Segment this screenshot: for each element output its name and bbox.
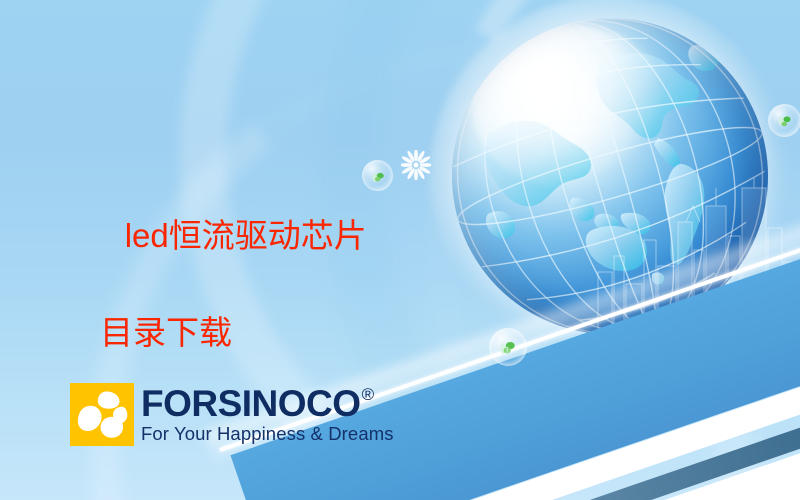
brand-logo-lockup: FORSINOCO ® For Your Happiness & Dreams [70, 383, 394, 446]
bubble-icon-3 [768, 104, 800, 137]
swirl-ribbon-right [356, 0, 800, 500]
brand-name-row: FORSINOCO ® [141, 385, 394, 422]
globe-sphere [452, 18, 768, 334]
brand-text-block: FORSINOCO ® For Your Happiness & Dreams [141, 385, 394, 444]
pinwheel-petals-icon [70, 383, 134, 446]
forsinoco-pinwheel-mark-icon [70, 383, 134, 446]
bubble-icon-2-content [497, 336, 518, 357]
brand-tagline: For Your Happiness & Dreams [141, 425, 394, 444]
slide-canvas: led恒流驱动芯片 目录下载 FORSINOCO ® [0, 0, 800, 500]
globe-halo [430, 0, 790, 356]
globe-rim-shading [452, 18, 768, 334]
headline-line-1: led恒流驱动芯片 [125, 217, 367, 254]
brand-name: FORSINOCO [141, 385, 361, 422]
swirl-ribbon-far-right [512, 0, 800, 500]
globe-highlight [471, 24, 667, 188]
bubble-icon-2 [489, 328, 527, 366]
registered-trademark-symbol: ® [362, 386, 375, 403]
city-skyline-icon [590, 176, 800, 366]
headline-line-2: 目录下载 [100, 309, 418, 358]
globe-icon [452, 18, 768, 334]
bubble-icon-3-content [775, 111, 794, 130]
globe-map-and-grid [452, 18, 768, 334]
